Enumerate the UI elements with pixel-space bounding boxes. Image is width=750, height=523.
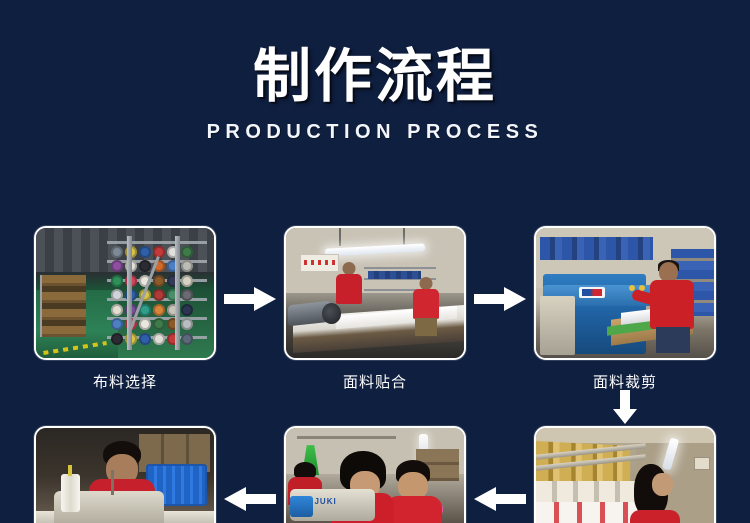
worker-right — [411, 277, 441, 329]
step-1-caption: 布料选择 — [93, 371, 157, 392]
page-title-en: PRODUCTION PROCESS — [0, 121, 750, 144]
worker-right-red-shirt — [413, 289, 439, 319]
rack-post-1 — [127, 236, 132, 350]
rack-post-2 — [175, 236, 180, 350]
scene-embroidery-machines — [536, 428, 714, 523]
worker-operator — [650, 262, 696, 353]
machine-brand-label: JUKI — [314, 497, 336, 506]
scene-laminating-table — [286, 228, 464, 358]
step-2-caption: 面料贴合 — [343, 371, 407, 392]
banner-header: 制作流程 PRODUCTION PROCESS — [0, 0, 750, 144]
worker-red-shirt — [650, 280, 694, 329]
process-row-bottom: JUKI — [0, 426, 750, 523]
production-process-banner: 制作流程 PRODUCTION PROCESS — [0, 0, 750, 523]
process-step-2: 面料贴合 — [250, 226, 500, 392]
scene-fabric-warehouse — [36, 228, 214, 358]
wall-control-panel — [694, 457, 710, 470]
worker-jeans — [656, 327, 690, 352]
worker-right-shorts — [415, 318, 437, 336]
blue-container — [290, 496, 313, 517]
scene-sewing-woman — [36, 428, 214, 523]
arrow-step3-to-step4 — [612, 390, 638, 424]
worker-head — [659, 262, 678, 282]
machine-logo-badge — [579, 287, 605, 298]
cutting-machine-panel — [540, 296, 576, 356]
scene-sewing-pair: JUKI — [286, 428, 464, 523]
step-3-caption: 面料裁剪 — [593, 371, 657, 392]
lamp-hanger-1 — [339, 228, 341, 246]
process-row-top: 布料选择 — [0, 226, 750, 392]
shelf-left-cartons — [40, 275, 86, 337]
process-step-4 — [0, 426, 250, 523]
process-step-5: JUKI — [250, 426, 500, 523]
page-title-cn: 制作流程 — [0, 46, 750, 107]
blue-bins-upper — [540, 237, 654, 260]
worker-face — [652, 473, 673, 496]
worker-left-red-shirt — [336, 274, 362, 304]
process-step-3: 面料裁剪 — [500, 226, 750, 392]
sewing-needle-arm — [111, 470, 114, 495]
process-step-1: 布料选择 — [0, 226, 250, 392]
arrow-step5-to-step4 — [224, 486, 276, 512]
photo-fabric-selection — [34, 226, 216, 360]
worker-red-shirt — [630, 510, 680, 523]
worker-operator — [630, 464, 682, 523]
photo-embroidery — [534, 426, 716, 523]
photo-fabric-laminating — [284, 226, 466, 360]
photo-fabric-cutting — [534, 226, 716, 360]
worker-hair — [294, 462, 316, 478]
photo-sewing-single — [34, 426, 216, 523]
photo-sewing-pair: JUKI — [284, 426, 466, 523]
process-step-6 — [500, 426, 750, 523]
workshop-ceiling — [536, 428, 714, 443]
ceiling-pipe — [297, 436, 397, 439]
scene-cutting-machine — [536, 228, 714, 358]
thread-spool-white — [61, 474, 80, 512]
worker-left — [334, 262, 364, 314]
arrow-step6-to-step5 — [474, 486, 526, 512]
